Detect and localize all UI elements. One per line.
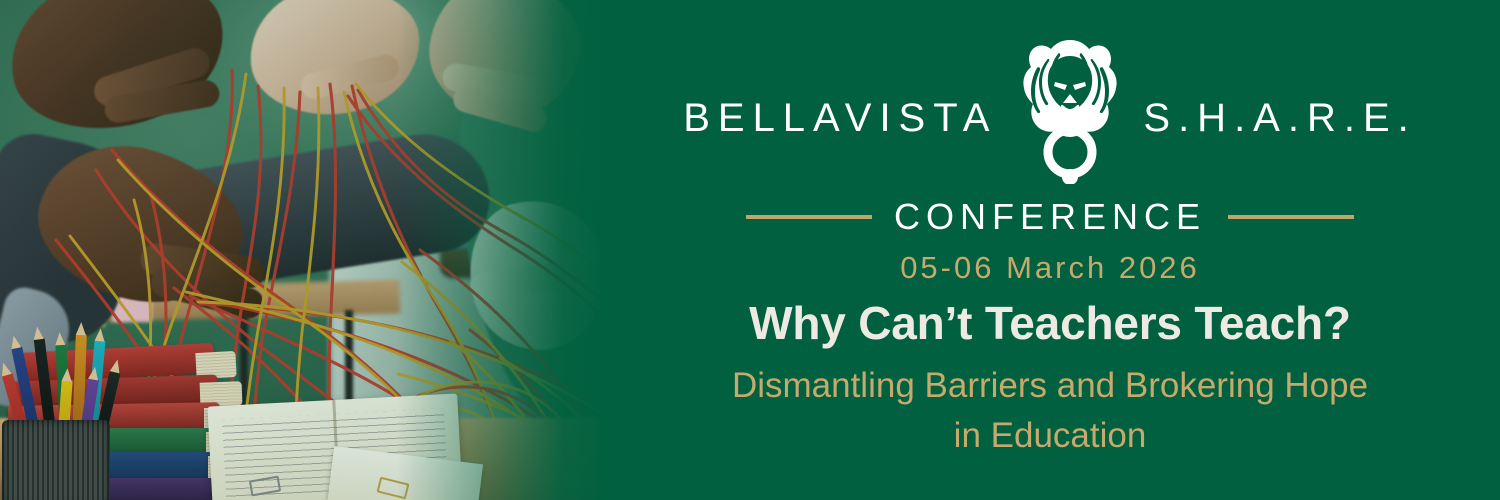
content-panel: BELLAVISTA bbox=[600, 0, 1500, 500]
decorative-rule-right bbox=[1228, 215, 1354, 219]
brand-lockup: BELLAVISTA bbox=[600, 36, 1500, 184]
lion-head-door-knocker-icon bbox=[1017, 36, 1123, 184]
decorative-rule-left bbox=[746, 215, 872, 219]
pencil-cup bbox=[2, 420, 110, 500]
event-headline: Why Can’t Teachers Teach? bbox=[600, 296, 1500, 350]
event-subtitle-line-2: in Education bbox=[600, 416, 1500, 456]
hero-photo bbox=[0, 0, 640, 500]
conference-banner: BELLAVISTA bbox=[0, 0, 1500, 500]
brand-wordmark-left: BELLAVISTA bbox=[683, 82, 997, 138]
event-subtitle-line-1: Dismantling Barriers and Brokering Hope bbox=[600, 366, 1500, 406]
conference-label: CONFERENCE bbox=[894, 196, 1206, 238]
brand-wordmark-right: S.H.A.R.E. bbox=[1143, 82, 1416, 138]
event-dates: 05-06 March 2026 bbox=[600, 250, 1500, 286]
conference-label-row: CONFERENCE bbox=[600, 196, 1500, 238]
